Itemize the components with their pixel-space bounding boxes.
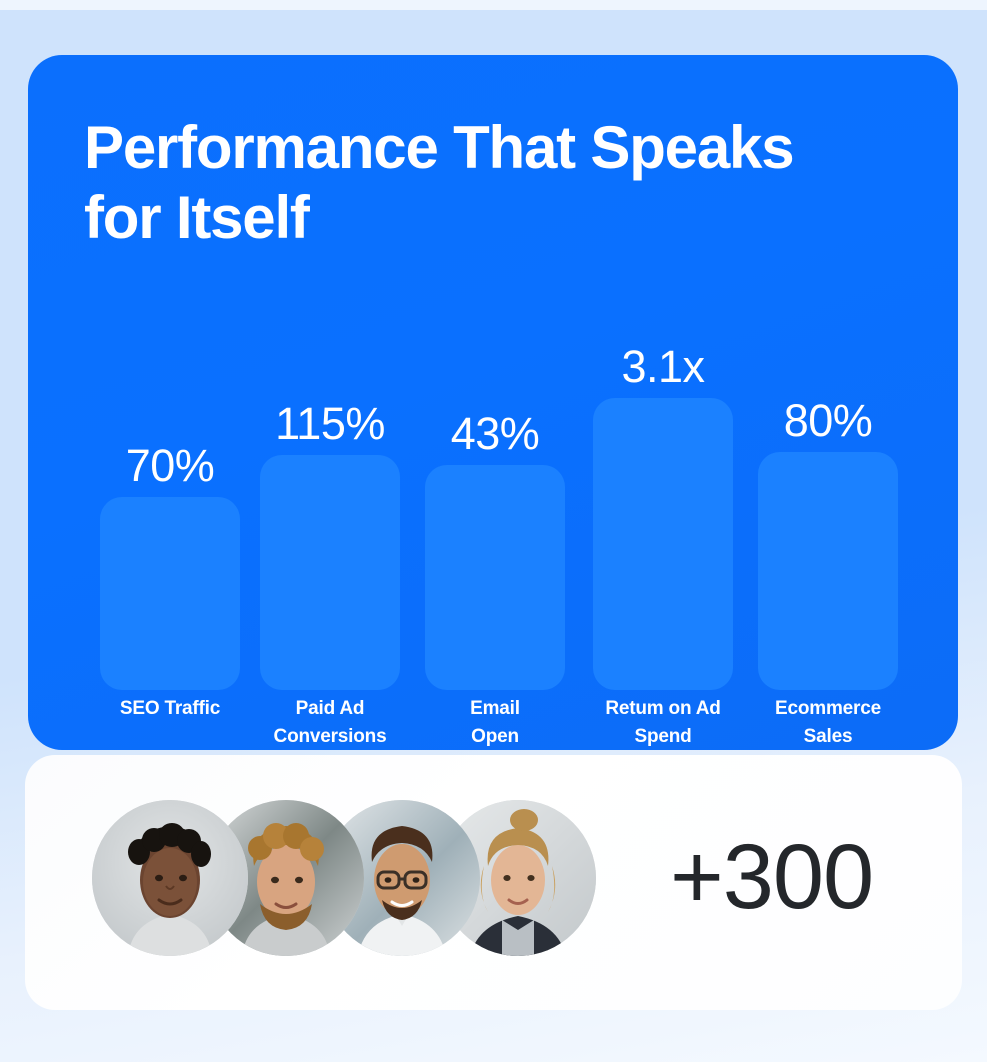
category-label-paid-ad-conversions: Paid Ad Conversions: [255, 695, 405, 751]
bar-value-label: 80%: [758, 395, 898, 447]
bar-rect: [593, 398, 733, 690]
bar-rect: [758, 452, 898, 690]
bar-rect: [425, 465, 565, 690]
bar-column-paid-ad-conversions: 115%: [260, 270, 400, 690]
bar-value-label: 43%: [425, 408, 565, 460]
bar-value-label: 70%: [100, 440, 240, 492]
bar-column-return-on-ad-spend: 3.1x: [593, 270, 733, 690]
bar-column-ecommerce-sales: 80%: [758, 270, 898, 690]
hero-card: Performance That Speaks for Itself 70% 1…: [28, 55, 958, 750]
bar-value-label: 115%: [260, 398, 400, 450]
poster-canvas: Performance That Speaks for Itself 70% 1…: [0, 0, 987, 1062]
social-proof-card: +300: [25, 755, 962, 1010]
category-label-seo-traffic: SEO Traffic: [95, 695, 245, 723]
bar-column-seo-traffic: 70%: [100, 270, 240, 690]
social-proof-count: +300: [670, 827, 873, 927]
bar-rect: [260, 455, 400, 690]
category-label-ecommerce-sales: Ecommerce Sales: [753, 695, 903, 751]
performance-bar-chart: 70% 115% 43% 3.1x 80%: [72, 270, 914, 690]
bar-rect: [100, 497, 240, 690]
bar-value-label: 3.1x: [593, 341, 733, 393]
page-title: Performance That Speaks for Itself: [84, 113, 844, 253]
bar-column-email-open-rates: 43%: [425, 270, 565, 690]
avatar-person-1: [92, 800, 248, 956]
